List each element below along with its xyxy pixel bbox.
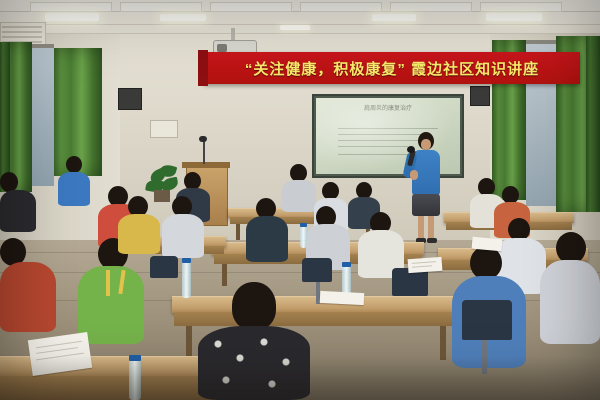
ceiling-panel bbox=[300, 2, 382, 12]
table-leg bbox=[186, 326, 192, 360]
bottle-cap bbox=[129, 355, 141, 361]
bottle-cap bbox=[300, 223, 307, 227]
presenter-face bbox=[421, 139, 431, 150]
microphone-head bbox=[407, 146, 415, 153]
audience-body bbox=[118, 214, 160, 254]
ceiling-line bbox=[0, 33, 600, 34]
lanyard bbox=[106, 270, 110, 296]
audience-head bbox=[470, 246, 502, 280]
presenter-leg bbox=[418, 216, 424, 240]
polka-dot-pattern bbox=[206, 332, 302, 400]
audience-body bbox=[282, 180, 316, 212]
audience-head bbox=[0, 172, 18, 192]
wall-sign bbox=[150, 120, 178, 138]
podium-mic-stand bbox=[203, 140, 205, 164]
bottle-cap bbox=[182, 258, 191, 263]
audience-body bbox=[58, 172, 90, 206]
water-bottle bbox=[300, 226, 307, 248]
handout-paper bbox=[320, 291, 365, 305]
ceiling-light bbox=[160, 14, 206, 21]
ceiling-panel bbox=[30, 2, 112, 12]
table-leg bbox=[236, 224, 240, 240]
ceiling-light bbox=[372, 14, 416, 21]
ceiling-light bbox=[486, 13, 542, 21]
chair bbox=[150, 256, 178, 278]
ceiling-light bbox=[280, 25, 310, 30]
presenter-shoe bbox=[427, 238, 437, 243]
photo-scene: “关注健康，积极康复” 霞边社区知识讲座 肩周炎的康复治疗 bbox=[0, 0, 600, 400]
window-frame bbox=[32, 44, 54, 48]
ceiling-panel bbox=[480, 2, 562, 12]
chair bbox=[302, 258, 332, 282]
podium-top bbox=[182, 162, 230, 168]
projection-screen: 肩周炎的康复治疗 bbox=[312, 94, 464, 178]
water-bottle bbox=[129, 360, 141, 400]
handout-paper bbox=[472, 237, 503, 252]
table-skirt bbox=[174, 312, 460, 326]
audience-body bbox=[246, 216, 288, 262]
table-leg bbox=[222, 264, 227, 286]
ceiling-panel bbox=[210, 2, 292, 12]
presenter-leg bbox=[428, 216, 434, 240]
air-vent-slat bbox=[2, 26, 42, 28]
air-vent-slat bbox=[2, 31, 42, 33]
audience-body bbox=[78, 266, 144, 344]
podium-mic bbox=[199, 136, 207, 142]
ceiling-light bbox=[45, 13, 99, 21]
window-frame-right bbox=[526, 40, 556, 44]
projector-lens bbox=[217, 44, 227, 52]
audience-head bbox=[232, 282, 276, 330]
presenter-skirt bbox=[412, 194, 440, 216]
audience-body bbox=[0, 190, 36, 232]
air-vent-slat bbox=[2, 36, 42, 38]
window-curtain-left-shadow bbox=[0, 42, 10, 192]
wall-speaker bbox=[118, 88, 142, 110]
bottle-cap bbox=[342, 262, 351, 267]
audience-body bbox=[0, 262, 56, 332]
banner-left-edge bbox=[198, 50, 208, 86]
red-banner: “关注健康，积极康复” 霞边社区知识讲座 bbox=[204, 52, 580, 84]
window-glass bbox=[32, 44, 54, 186]
chair bbox=[462, 300, 512, 340]
audience-body bbox=[540, 260, 600, 344]
window-curtain-right-shadow bbox=[586, 36, 600, 212]
chair-leg bbox=[482, 340, 487, 374]
plant-pot bbox=[154, 190, 170, 202]
ceiling-panel bbox=[120, 2, 202, 12]
presenter-hand bbox=[410, 170, 418, 180]
audience-body bbox=[162, 214, 204, 258]
table-leg bbox=[440, 326, 446, 360]
water-bottle bbox=[182, 262, 191, 298]
audience-head bbox=[66, 156, 82, 173]
ceiling-panel bbox=[390, 2, 472, 12]
wall-speaker-right bbox=[470, 86, 490, 106]
